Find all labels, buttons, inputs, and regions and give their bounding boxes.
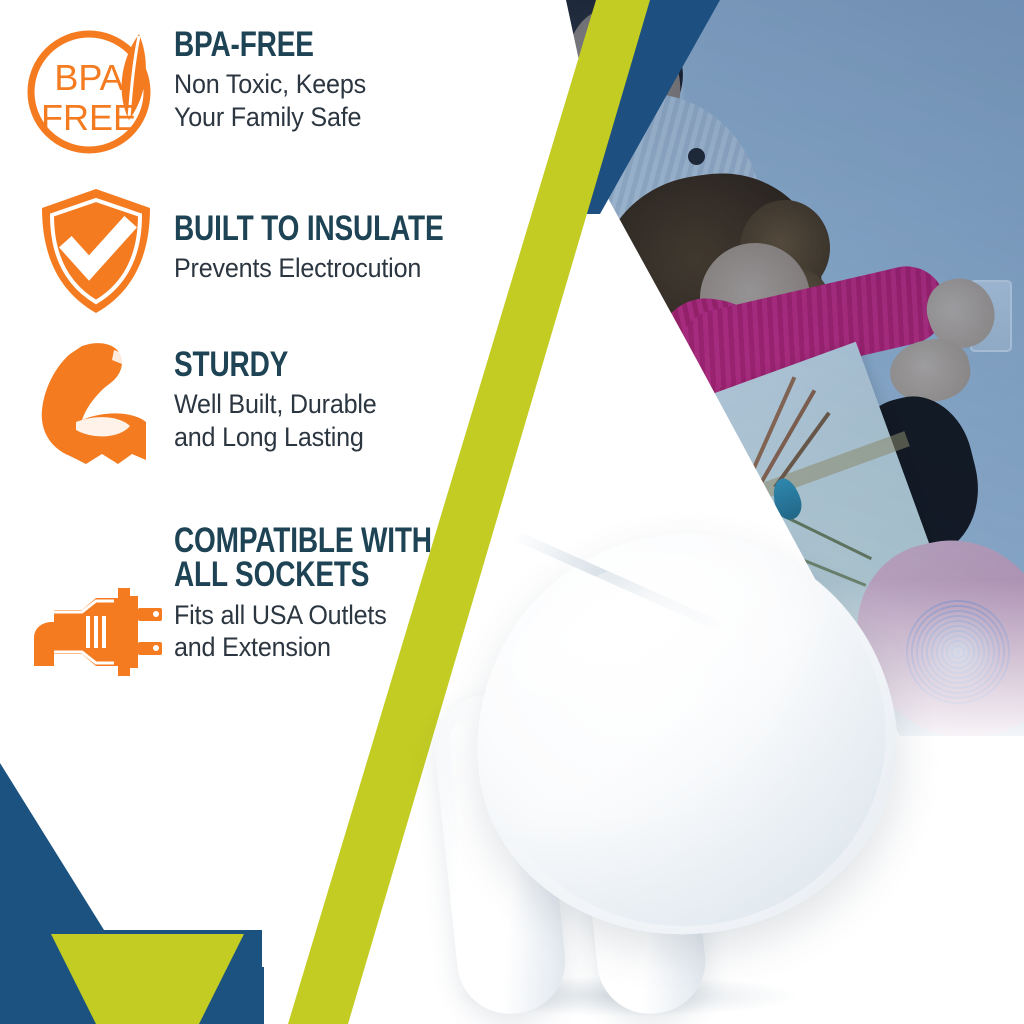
bpa-icon-line1: BPA	[54, 57, 123, 98]
bpa-icon-line2: FREE	[41, 97, 137, 138]
product-infographic: BPA FREE BPA-FREE Non Toxic, Keeps Your …	[0, 0, 1024, 1024]
feature-item-sturdy: STURDY Well Built, Durable and Long Last…	[18, 336, 392, 466]
feature-item-compatible-sockets: COMPATIBLE WITH ALL SOCKETS Fits all USA…	[18, 524, 496, 682]
feature-title: COMPATIBLE WITH ALL SOCKETS	[174, 524, 432, 593]
feature-subtitle: Non Toxic, Keeps Your Family Safe	[174, 68, 366, 133]
feature-text-bpa-free: BPA-FREE Non Toxic, Keeps Your Family Sa…	[174, 18, 380, 133]
shield-check-icon	[18, 186, 174, 316]
feature-text-sturdy: STURDY Well Built, Durable and Long Last…	[174, 336, 392, 453]
power-plug-icon	[18, 524, 174, 682]
feature-subtitle: Fits all USA Outlets and Extension	[174, 599, 474, 664]
flexed-bicep-icon	[18, 336, 174, 466]
feature-text-compatible-sockets: COMPATIBLE WITH ALL SOCKETS Fits all USA…	[174, 524, 496, 663]
feature-title: BUILT TO INSULATE	[174, 212, 443, 246]
feature-title: STURDY	[174, 348, 348, 382]
feature-item-bpa-free: BPA FREE BPA-FREE Non Toxic, Keeps Your …	[18, 18, 380, 162]
feature-item-built-to-insulate: BUILT TO INSULATE Prevents Electrocution	[18, 186, 511, 316]
bpa-free-leaf-icon: BPA FREE	[18, 18, 174, 162]
feature-subtitle: Well Built, Durable and Long Lasting	[174, 388, 377, 453]
feature-subtitle: Prevents Electrocution	[174, 252, 487, 284]
feature-text-built-to-insulate: BUILT TO INSULATE Prevents Electrocution	[174, 186, 511, 285]
feature-title: BPA-FREE	[174, 28, 339, 62]
